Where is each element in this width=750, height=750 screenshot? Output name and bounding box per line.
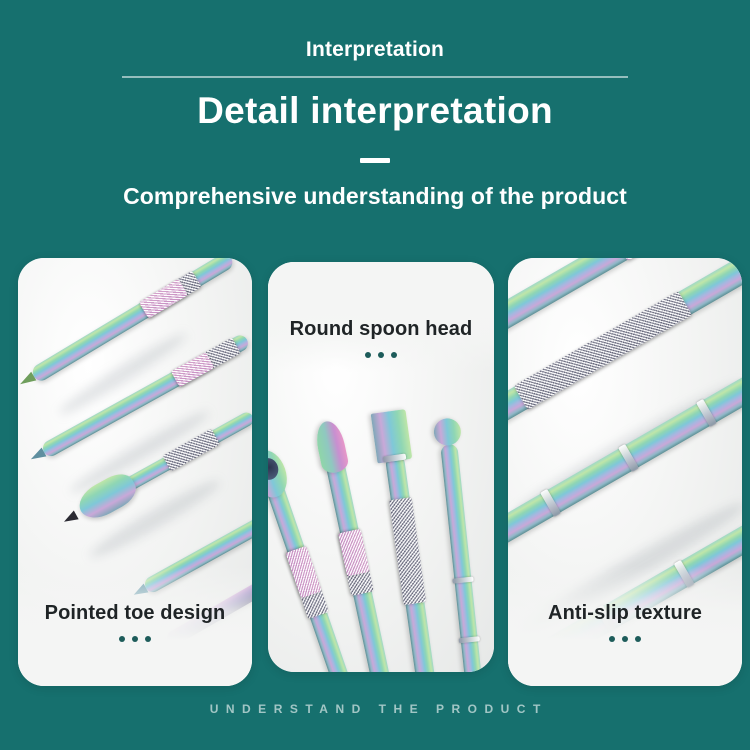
caption-gradient-scrim [268, 262, 494, 372]
header-divider-rule [122, 76, 628, 78]
title-dash-divider [360, 158, 390, 163]
feature-card-pointed-toe[interactable]: Pointed toe design [18, 258, 252, 686]
footer-tagline: UNDERSTAND THE PRODUCT [0, 702, 750, 716]
caption-gradient-scrim [508, 566, 742, 686]
feature-card-round-spoon[interactable]: Round spoon head [268, 262, 494, 672]
eyebrow-label: Interpretation [0, 38, 750, 62]
page-header: Interpretation Detail interpretation Com… [0, 0, 750, 210]
page-subtitle: Comprehensive understanding of the produ… [0, 183, 750, 210]
page-title: Detail interpretation [0, 90, 750, 132]
feature-card-anti-slip[interactable]: Anti-slip texture [508, 258, 742, 686]
caption-gradient-scrim [18, 566, 252, 686]
